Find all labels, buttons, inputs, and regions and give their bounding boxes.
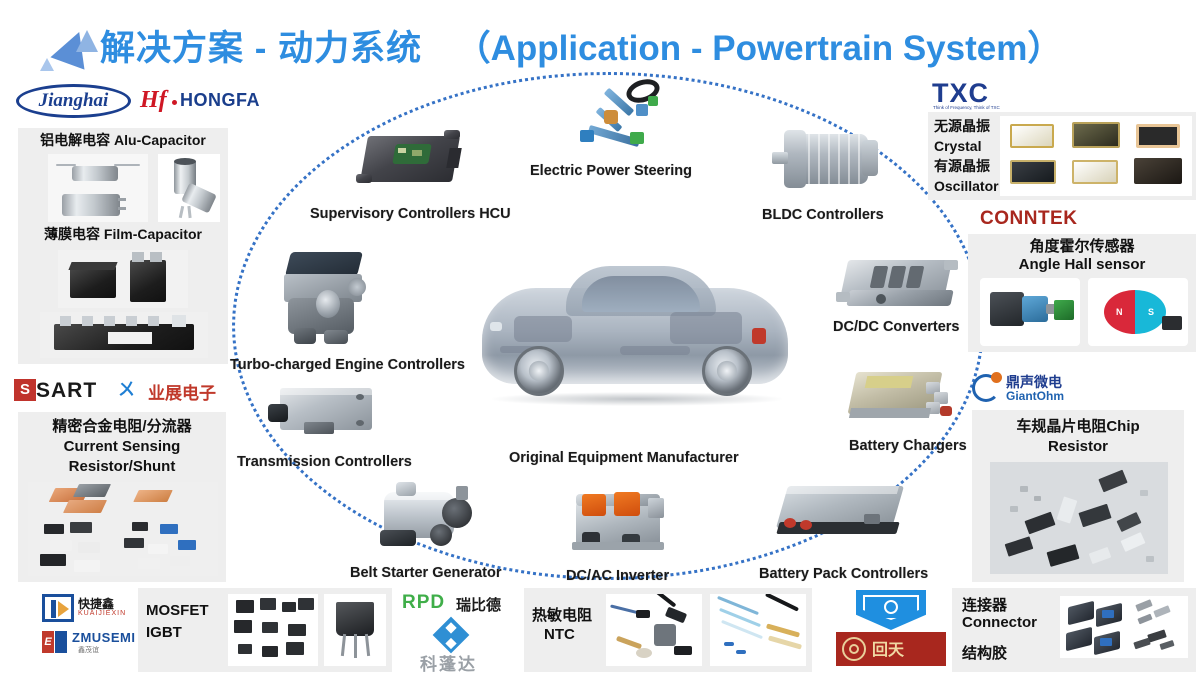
kuaijiexin-mark-icon xyxy=(42,594,74,622)
crystal-label-en2: Oscillator xyxy=(934,176,999,196)
oem-car-image xyxy=(470,250,800,435)
alu-capacitor-label: 铝电解电容 Alu-Capacitor xyxy=(18,132,228,148)
alu-capacitor-panel: 铝电解电容 Alu-Capacitor xyxy=(18,128,228,228)
brand-logo-huitian-cn: 回天 xyxy=(872,636,904,660)
brand-logo-sart-text: SART xyxy=(36,379,97,403)
battery-pack-controller-image xyxy=(768,478,916,556)
ntc-panel: 热敏电阻 NTC xyxy=(524,588,812,672)
current-sensing-label-en2: Resistor/Shunt xyxy=(18,458,226,475)
page-title: 解决方案 - 动力系统 （Application - Powertrain Sy… xyxy=(100,20,1062,71)
giantohm-dot-icon xyxy=(991,372,1002,383)
battery-charger-image xyxy=(842,366,966,432)
slide-root: 解决方案 - 动力系统 （Application - Powertrain Sy… xyxy=(0,0,1200,674)
film-capacitor-panel: 薄膜电容 Film-Capacitor xyxy=(18,222,228,364)
magnet-pole-n: N xyxy=(1116,307,1123,317)
ntc-photo-1 xyxy=(606,594,702,666)
brand-logo-rpd: RPD 瑞比德 xyxy=(402,592,522,618)
brand-logo-conntek: CONNTEK xyxy=(980,208,1100,232)
connector-photo xyxy=(1060,596,1188,658)
mosfet-igbt-label-line1: MOSFET xyxy=(146,602,209,619)
huitian-mark-icon xyxy=(842,637,866,661)
chip-resistor-photo xyxy=(990,462,1168,574)
angle-hall-label-en: Angle Hall sensor xyxy=(968,256,1196,273)
igbt-photo xyxy=(324,594,386,666)
ntc-photo-2 xyxy=(710,594,806,666)
brand-logo-yezhan: ㄨ 业展电子 xyxy=(118,378,228,404)
brand-logo-giantohm-en: GiantOhm xyxy=(1006,389,1064,403)
bldc-controller-image xyxy=(772,126,882,196)
turbo-engine-image xyxy=(272,250,384,354)
current-sensing-label-en1: Current Sensing xyxy=(18,438,226,455)
label-electric-power-steering: Electric Power Steering xyxy=(530,163,692,179)
brand-logo-giantohm: 鼎声微电 GiantOhm xyxy=(972,372,1112,406)
mosfet-igbt-panel: MOSFET IGBT xyxy=(138,588,392,672)
alu-capacitor-photo xyxy=(48,154,148,224)
label-battery-chargers: Battery Chargers xyxy=(849,438,967,454)
connector-label-cn: 连接器 xyxy=(962,594,1007,615)
connector-maker-mark-icon xyxy=(856,590,926,630)
brand-logo-hongfa: Hf HONGFA xyxy=(140,86,252,116)
brand-logo-kelengda: 科蓬达 xyxy=(420,622,520,670)
belt-starter-generator-image xyxy=(370,478,490,556)
brand-logo-zmusemi-en: ZMUSEMI xyxy=(72,630,135,645)
chip-resistor-label-line1: 车规晶片电阻Chip xyxy=(972,418,1184,435)
mosfet-photo xyxy=(228,594,318,666)
crystal-label-cn1: 无源晶振 xyxy=(934,116,999,136)
crystal-oscillator-panel: 无源晶振 Crystal 有源晶振 Oscillator xyxy=(928,112,1196,200)
brand-logo-yezhan-text: 业展电子 xyxy=(148,379,216,404)
film-capacitor-module-photo xyxy=(40,312,208,358)
chip-resistor-label-line2: Resistor xyxy=(972,438,1184,455)
brand-logo-jianghai: Jianghai xyxy=(16,84,131,118)
current-sensing-label-cn: 精密合金电阻/分流器 xyxy=(18,418,226,435)
dcdc-converter-image xyxy=(832,252,962,318)
yezhan-mark-icon: ㄨ xyxy=(118,381,144,399)
label-belt-starter-generator: Belt Starter Generator xyxy=(350,565,502,581)
brand-logo-kelengda-cn: 科蓬达 xyxy=(420,650,477,674)
brand-logo-zmusemi-cn: 鑫茂谊 xyxy=(78,645,99,655)
triangles-logo-icon xyxy=(36,28,100,72)
kelengda-mark-icon xyxy=(433,617,470,654)
adhesive-label-cn: 结构胶 xyxy=(962,642,1007,663)
label-transmission-controllers: Transmission Controllers xyxy=(237,454,412,470)
brand-logo-conntek-text: CONNTEK xyxy=(980,208,1077,230)
mosfet-igbt-label-line2: IGBT xyxy=(146,624,182,641)
slide-header: 解决方案 - 动力系统 （Application - Powertrain Sy… xyxy=(0,8,1200,70)
brand-logo-kuaijiexin: 快捷鑫 KUAIJIEXIN xyxy=(42,594,138,624)
hall-sensor-magnet-photo: N S xyxy=(1088,278,1188,346)
page-title-en: （Application - Powertrain System） xyxy=(456,29,1063,68)
label-dcac-inverter: DC/AC Inverter xyxy=(566,568,669,584)
label-bldc-controllers: BLDC Controllers xyxy=(762,207,884,223)
ntc-label-line1: 热敏电阻 xyxy=(532,604,592,625)
brand-logo-sart: S SART xyxy=(14,378,122,404)
crystal-label-en1: Crystal xyxy=(934,136,999,156)
brand-logo-connector-maker xyxy=(856,590,926,630)
sart-mark-icon: S xyxy=(14,379,36,401)
txc-tagline: Think of Frequency, Think of TXC xyxy=(933,105,1000,110)
current-sensing-photo xyxy=(28,482,218,576)
crystal-oscillator-labels: 无源晶振 Crystal 有源晶振 Oscillator xyxy=(934,116,999,196)
current-sensing-panel: 精密合金电阻/分流器 Current Sensing Resistor/Shun… xyxy=(18,412,226,582)
brand-logo-rpd-cn: 瑞比德 xyxy=(456,594,501,615)
supervisory-controller-image xyxy=(352,126,470,196)
label-original-equipment-manufacturer: Original Equipment Manufacturer xyxy=(509,450,739,466)
zmusemi-mark-icon: E xyxy=(42,631,68,653)
transmission-controller-image xyxy=(264,382,382,444)
film-capacitor-label: 薄膜电容 Film-Capacitor xyxy=(18,226,228,242)
label-supervisory-controllers-hcu: Supervisory Controllers HCU xyxy=(310,206,511,222)
label-turbo-charged-engine-controllers: Turbo-charged Engine Controllers xyxy=(230,357,465,373)
label-battery-pack-controllers: Battery Pack Controllers xyxy=(759,566,928,582)
hongfa-mark-icon: Hf xyxy=(140,86,170,114)
ntc-label-line2: NTC xyxy=(544,626,575,643)
brand-logo-rpd-en: RPD xyxy=(402,592,445,614)
crystal-label-cn2: 有源晶振 xyxy=(934,156,999,176)
angle-hall-sensor-panel: 角度霍尔传感器 Angle Hall sensor N S xyxy=(968,234,1196,352)
magnet-pole-s: S xyxy=(1148,307,1154,317)
connector-adhesive-panel: 连接器 Connector 结构胶 xyxy=(952,588,1196,672)
brand-logo-zmusemi: E ZMUSEMI 鑫茂谊 xyxy=(42,630,138,658)
brand-logo-hongfa-text: HONGFA xyxy=(180,90,260,111)
magnet-icon: N S xyxy=(1104,290,1166,334)
page-title-cn: 解决方案 - 动力系统 xyxy=(100,29,422,68)
crystal-photo-grid xyxy=(1000,116,1192,196)
label-dcdc-converters: DC/DC Converters xyxy=(833,319,960,335)
alu-capacitor-photo-2 xyxy=(158,154,220,224)
dcac-inverter-image xyxy=(562,488,680,560)
angle-hall-label-cn: 角度霍尔传感器 xyxy=(968,238,1196,255)
chip-resistor-panel: 车规晶片电阻Chip Resistor xyxy=(972,410,1184,582)
hongfa-dot-icon xyxy=(172,100,177,105)
hall-sensor-motor-photo xyxy=(980,278,1080,346)
brand-logo-txc: TXC Think of Frequency, Think of TXC xyxy=(932,80,1028,112)
electric-power-steering-image xyxy=(576,80,686,164)
film-capacitor-photo xyxy=(58,250,188,308)
brand-logo-jianghai-text: Jianghai xyxy=(16,84,131,118)
connector-label-en: Connector xyxy=(962,614,1037,631)
brand-logo-kuaijiexin-en: KUAIJIEXIN xyxy=(78,610,126,617)
brand-logo-huitian: 回天 xyxy=(836,632,946,666)
